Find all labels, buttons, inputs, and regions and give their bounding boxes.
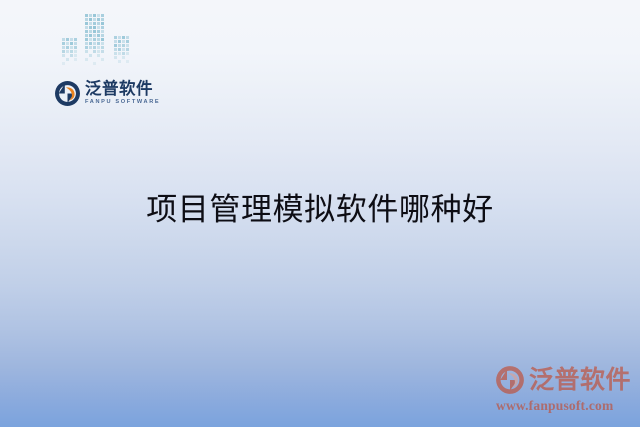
brand-name-cn: 泛普软件 xyxy=(85,81,160,98)
brand-name-en: FANPU SOFTWARE xyxy=(85,100,160,106)
watermark: 泛普软件 www.fanpusoft.com xyxy=(495,363,635,419)
pixelated-cityscape-icon xyxy=(52,10,164,74)
slide-canvas: 泛普软件 FANPU SOFTWARE 项目管理模拟软件哪种好 泛普软件 www… xyxy=(0,0,640,427)
watermark-name-cn: 泛普软件 xyxy=(529,368,631,393)
fanpu-circle-swoosh-logo-icon xyxy=(54,80,81,107)
brand-block: 泛普软件 FANPU SOFTWARE xyxy=(52,10,164,110)
watermark-logo-row: 泛普软件 xyxy=(495,363,635,397)
page-title: 项目管理模拟软件哪种好 xyxy=(146,184,494,229)
watermark-url: www.fanpusoft.com xyxy=(496,398,635,414)
brand-logo: 泛普软件 FANPU SOFTWARE xyxy=(54,80,160,107)
fanpu-circle-swoosh-logo-icon xyxy=(495,365,525,395)
